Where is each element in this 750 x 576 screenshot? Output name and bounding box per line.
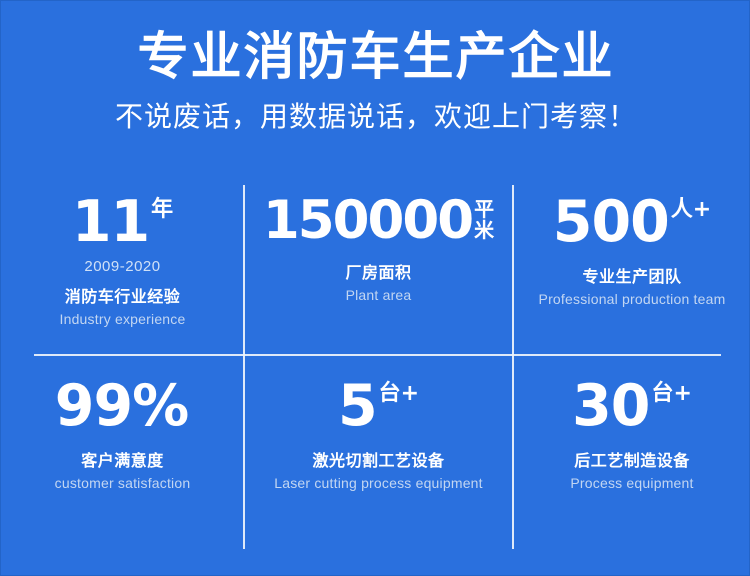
page-subtitle: 不说废话，用数据说话，欢迎上门考察！ — [1, 100, 750, 134]
grid-divider-vertical-right — [512, 185, 514, 549]
stat-cell-plant-area: 150000 平 米 厂房面积 Plant area — [244, 185, 513, 355]
stat-cell-industry-experience: 11 年 2009-2020 消防车行业经验 Industry experien… — [1, 185, 244, 355]
stat-label-cn: 专业生产团队 — [582, 263, 681, 287]
grid-divider-horizontal — [34, 354, 721, 356]
stat-label-en: Laser cutting process equipment — [274, 475, 483, 491]
stat-note: 2009-2020 — [84, 258, 160, 275]
stat-unit: 台+ — [651, 382, 691, 405]
stat-label-en: customer satisfaction — [55, 475, 191, 491]
promo-banner: 专业消防车生产企业 不说废话，用数据说话，欢迎上门考察！ 11 年 2009-2… — [0, 0, 750, 576]
stat-value-row: 5 台+ — [338, 379, 419, 435]
stat-value-row: 99% — [55, 379, 190, 435]
stat-unit: 台+ — [379, 382, 419, 405]
stat-label-en: Process equipment — [570, 475, 693, 491]
stat-unit: 人+ — [671, 198, 711, 221]
stat-cell-laser-cutting-equipment: 5 台+ 激光切割工艺设备 Laser cutting process equi… — [244, 355, 513, 551]
stat-cell-customer-satisfaction: 99% 客户满意度 customer satisfaction — [1, 355, 244, 551]
stat-value-row: 500 人+ — [553, 195, 711, 251]
stats-grid: 11 年 2009-2020 消防车行业经验 Industry experien… — [1, 185, 750, 551]
stat-label-en: Industry experience — [60, 311, 186, 327]
stat-unit: 平 米 — [474, 199, 494, 241]
stat-cell-process-equipment: 30 台+ 后工艺制造设备 Process equipment — [513, 355, 750, 551]
stat-label-en: Plant area — [346, 287, 412, 303]
stat-label-cn: 厂房面积 — [345, 259, 411, 283]
stat-label-en: Professional production team — [539, 291, 726, 307]
stat-label-cn: 客户满意度 — [81, 447, 164, 471]
grid-divider-vertical-left — [243, 185, 245, 549]
stat-value: 99% — [55, 379, 188, 435]
banner-header: 专业消防车生产企业 不说废话，用数据说话，欢迎上门考察！ — [1, 1, 750, 134]
stat-value-row: 30 台+ — [572, 379, 692, 435]
stat-value: 11 — [72, 195, 149, 251]
stat-label-cn: 激光切割工艺设备 — [312, 447, 444, 471]
stat-value-row: 11 年 — [72, 195, 173, 251]
stat-value-row: 150000 平 米 — [263, 195, 494, 247]
stat-label-cn: 消防车行业经验 — [65, 283, 181, 307]
stat-label-cn: 后工艺制造设备 — [574, 447, 690, 471]
stat-unit: 年 — [151, 198, 173, 221]
stat-value: 30 — [572, 379, 649, 435]
stat-value: 500 — [553, 195, 669, 251]
page-title: 专业消防车生产企业 — [1, 28, 750, 88]
stat-value: 5 — [338, 379, 377, 435]
stat-cell-production-team: 500 人+ 专业生产团队 Professional production te… — [513, 185, 750, 355]
stat-value: 150000 — [263, 195, 472, 247]
